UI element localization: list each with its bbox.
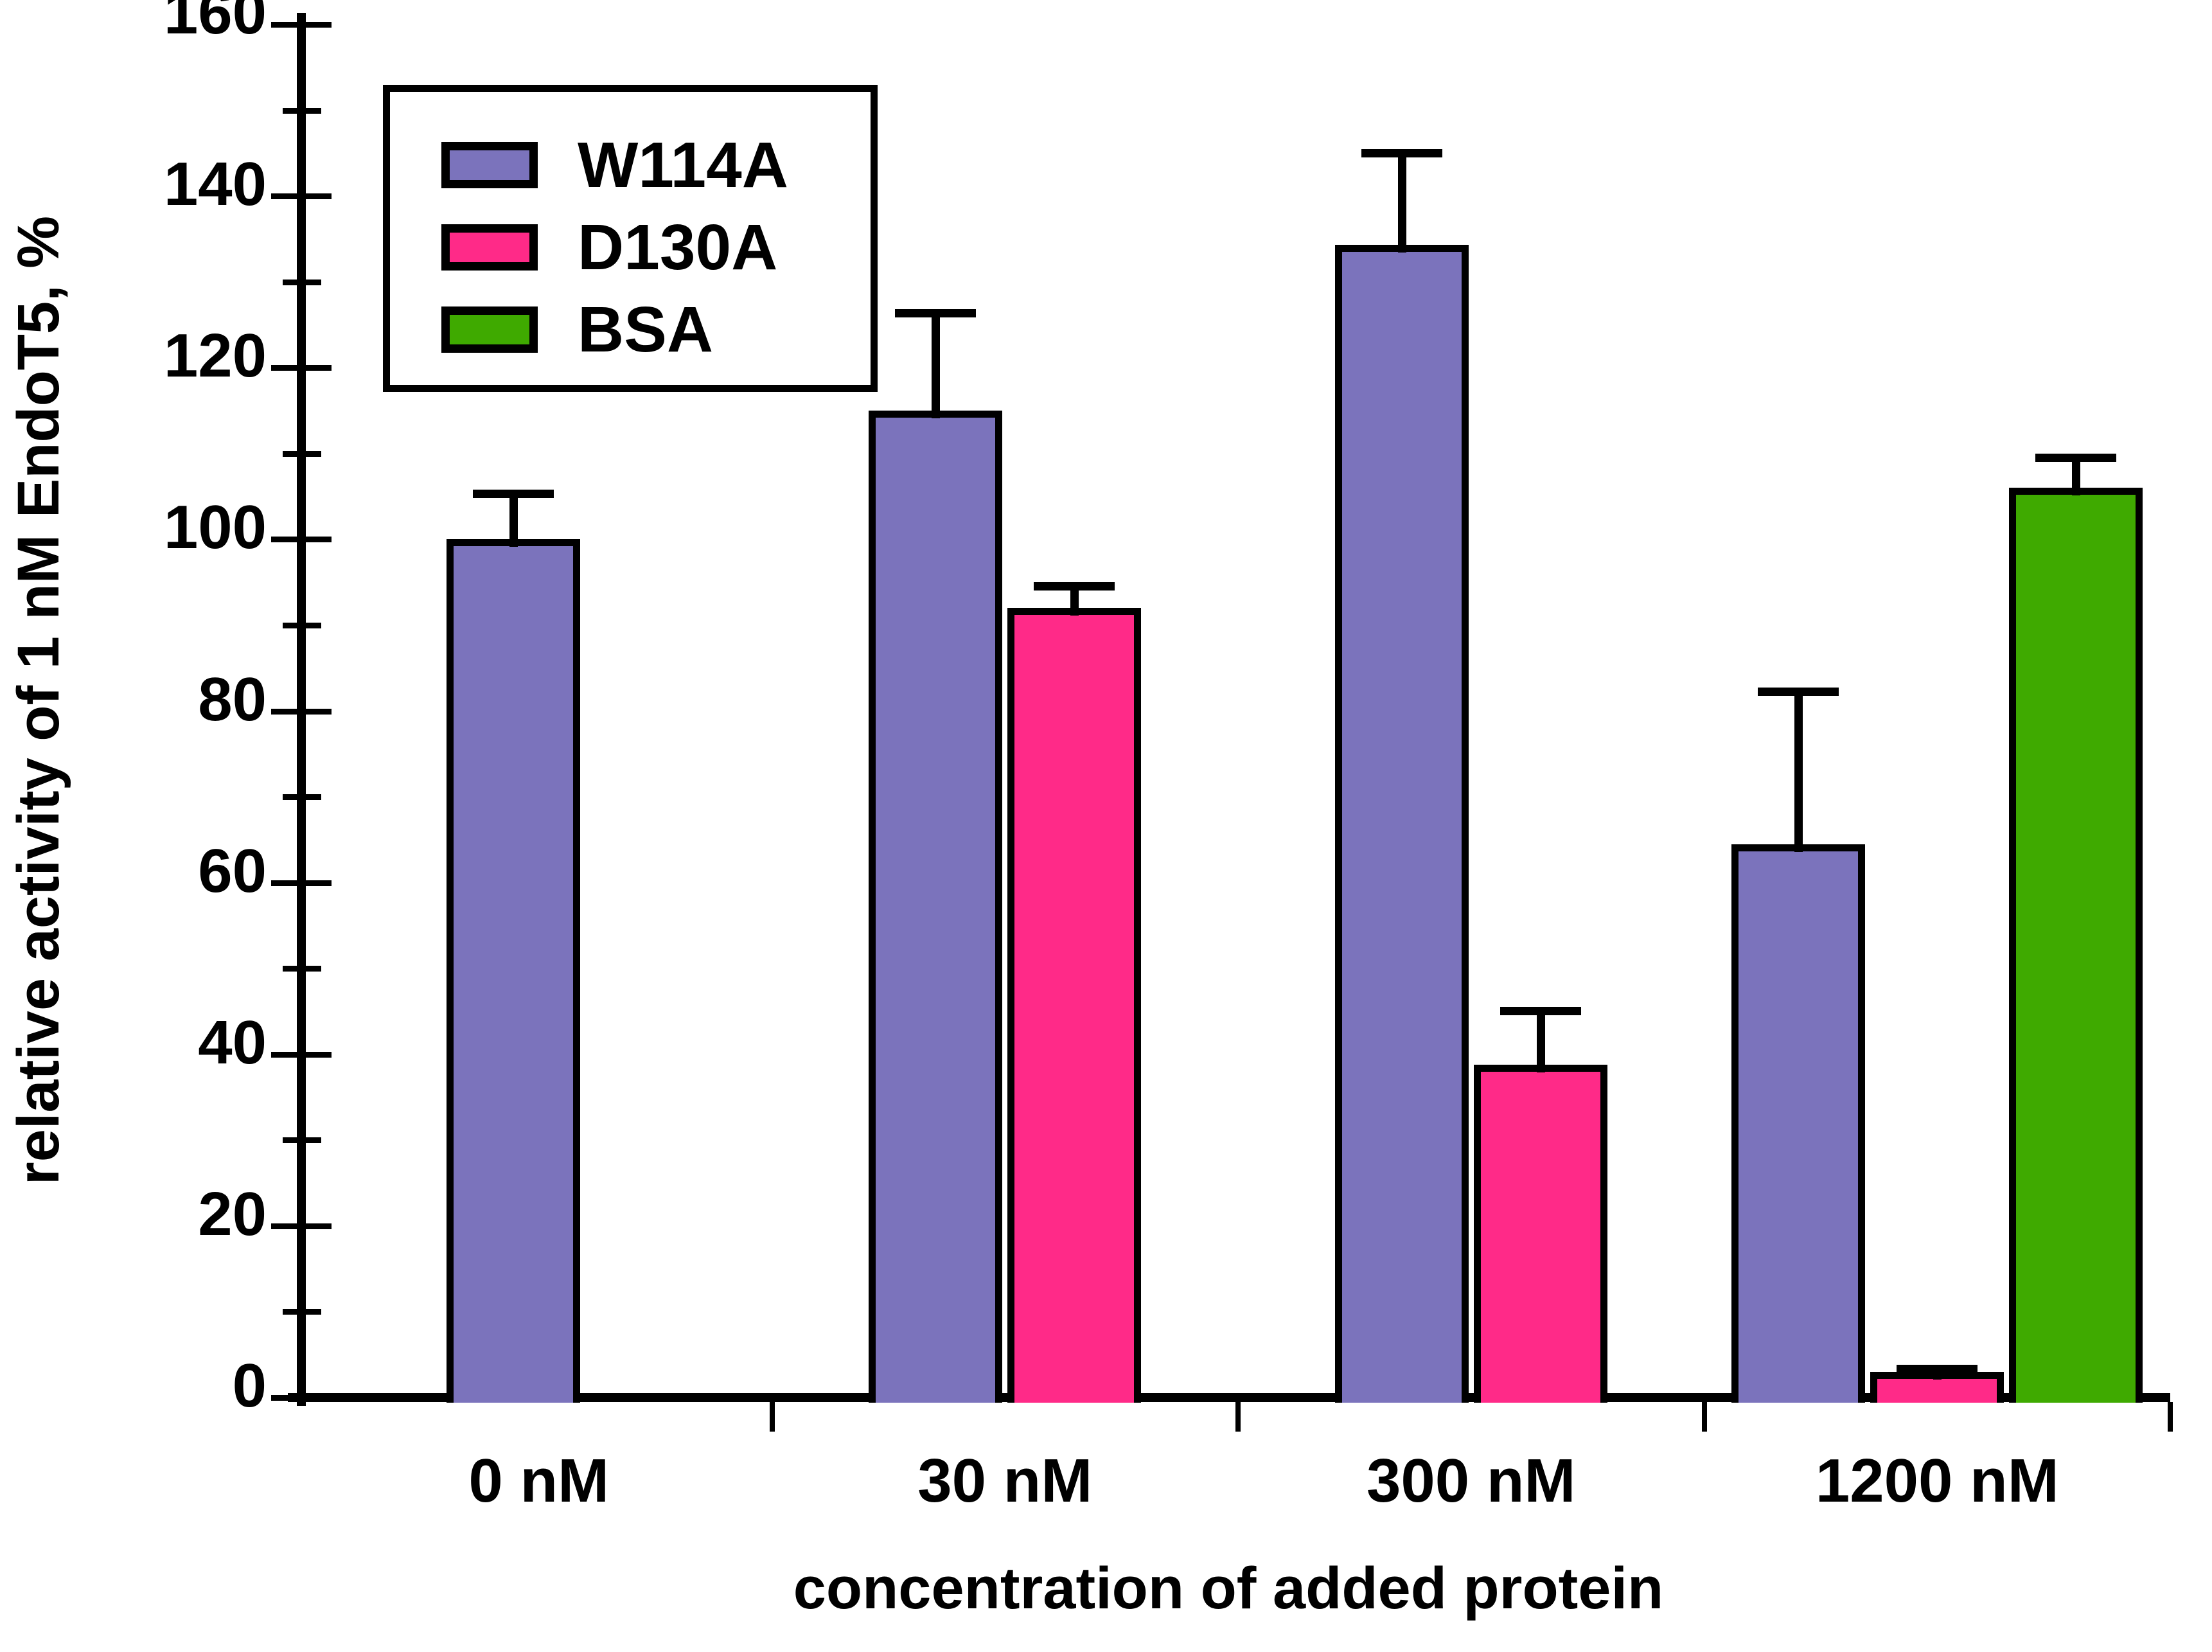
bar-d130a-1 — [1007, 608, 1141, 1403]
bar-bsa-3 — [2009, 488, 2143, 1403]
y-tick-label-20: 20 — [198, 1184, 267, 1245]
x-tick-label-1: 30 nM — [772, 1446, 1239, 1516]
y-tick-label-100: 100 — [164, 497, 267, 558]
y-tick-140 — [271, 193, 332, 199]
legend-label-bsa: BSA — [578, 298, 713, 362]
bar-d130a-2 — [1474, 1065, 1607, 1403]
y-tick-label-120: 120 — [164, 325, 267, 387]
legend-swatch-w114a — [441, 142, 538, 188]
x-tick-label-0: 0 nM — [306, 1446, 772, 1516]
x-tick-4 — [2168, 1402, 2173, 1432]
bar-w114a-0 — [447, 539, 580, 1403]
error-cap-w114a-2 — [1361, 149, 1442, 157]
x-tick-1 — [770, 1402, 775, 1432]
error-stem-w114a-3 — [1794, 688, 1803, 851]
legend-item-w114a[interactable]: W114A — [441, 133, 788, 197]
chart-canvas: relative activity of 1 nM EndoT5, % 0204… — [0, 0, 2212, 1652]
x-tick-3 — [1702, 1402, 1707, 1432]
error-cap-d130a-2 — [1500, 1007, 1581, 1015]
y-tick-20 — [271, 1223, 332, 1229]
y-minor-tick-50 — [283, 966, 321, 972]
y-tick-label-140: 140 — [164, 154, 267, 215]
legend-swatch-d130a — [441, 224, 538, 271]
legend-swatch-bsa — [441, 306, 538, 353]
error-stem-d130a-2 — [1537, 1007, 1545, 1072]
y-tick-100 — [271, 537, 332, 542]
error-cap-w114a-1 — [895, 309, 976, 317]
y-tick-label-80: 80 — [198, 669, 267, 731]
legend-label-d130a: D130A — [578, 215, 777, 280]
legend-item-bsa[interactable]: BSA — [441, 298, 713, 362]
y-tick-label-60: 60 — [198, 840, 267, 902]
error-cap-d130a-3 — [1897, 1365, 1978, 1373]
y-tick-40 — [271, 1052, 332, 1058]
y-minor-tick-70 — [283, 794, 321, 800]
error-cap-bsa-3 — [2035, 454, 2116, 462]
y-minor-tick-150 — [283, 108, 321, 114]
error-stem-w114a-1 — [932, 309, 940, 418]
bar-w114a-1 — [869, 411, 1002, 1403]
error-cap-d130a-1 — [1034, 582, 1115, 591]
y-tick-label-0: 0 — [233, 1355, 267, 1417]
bar-w114a-3 — [1731, 844, 1865, 1403]
error-cap-w114a-3 — [1758, 688, 1839, 696]
y-tick-0 — [271, 1395, 332, 1401]
y-minor-tick-110 — [283, 451, 321, 457]
legend: W114AD130ABSA — [383, 85, 878, 392]
y-tick-60 — [271, 880, 332, 886]
y-minor-tick-10 — [283, 1309, 321, 1315]
x-tick-2 — [1235, 1402, 1241, 1432]
y-tick-120 — [271, 365, 332, 371]
error-stem-w114a-2 — [1398, 149, 1406, 253]
x-tick-label-3: 1200 nM — [1704, 1446, 2171, 1516]
y-minor-tick-130 — [283, 280, 321, 285]
x-tick-label-2: 300 nM — [1238, 1446, 1704, 1516]
y-minor-tick-30 — [283, 1137, 321, 1143]
x-axis-title: concentration of added protein — [297, 1555, 2160, 1622]
y-minor-tick-90 — [283, 623, 321, 628]
y-axis-title: relative activity of 1 nM EndoT5, % — [0, 0, 77, 1401]
y-tick-label-160: 160 — [164, 0, 267, 44]
legend-item-d130a[interactable]: D130A — [441, 215, 777, 280]
bar-w114a-2 — [1335, 245, 1469, 1403]
legend-label-w114a: W114A — [578, 133, 788, 197]
error-stem-w114a-0 — [509, 490, 518, 547]
y-tick-label-40: 40 — [198, 1012, 267, 1074]
error-cap-w114a-0 — [473, 490, 554, 498]
y-tick-80 — [271, 709, 332, 715]
y-tick-160 — [271, 22, 332, 28]
